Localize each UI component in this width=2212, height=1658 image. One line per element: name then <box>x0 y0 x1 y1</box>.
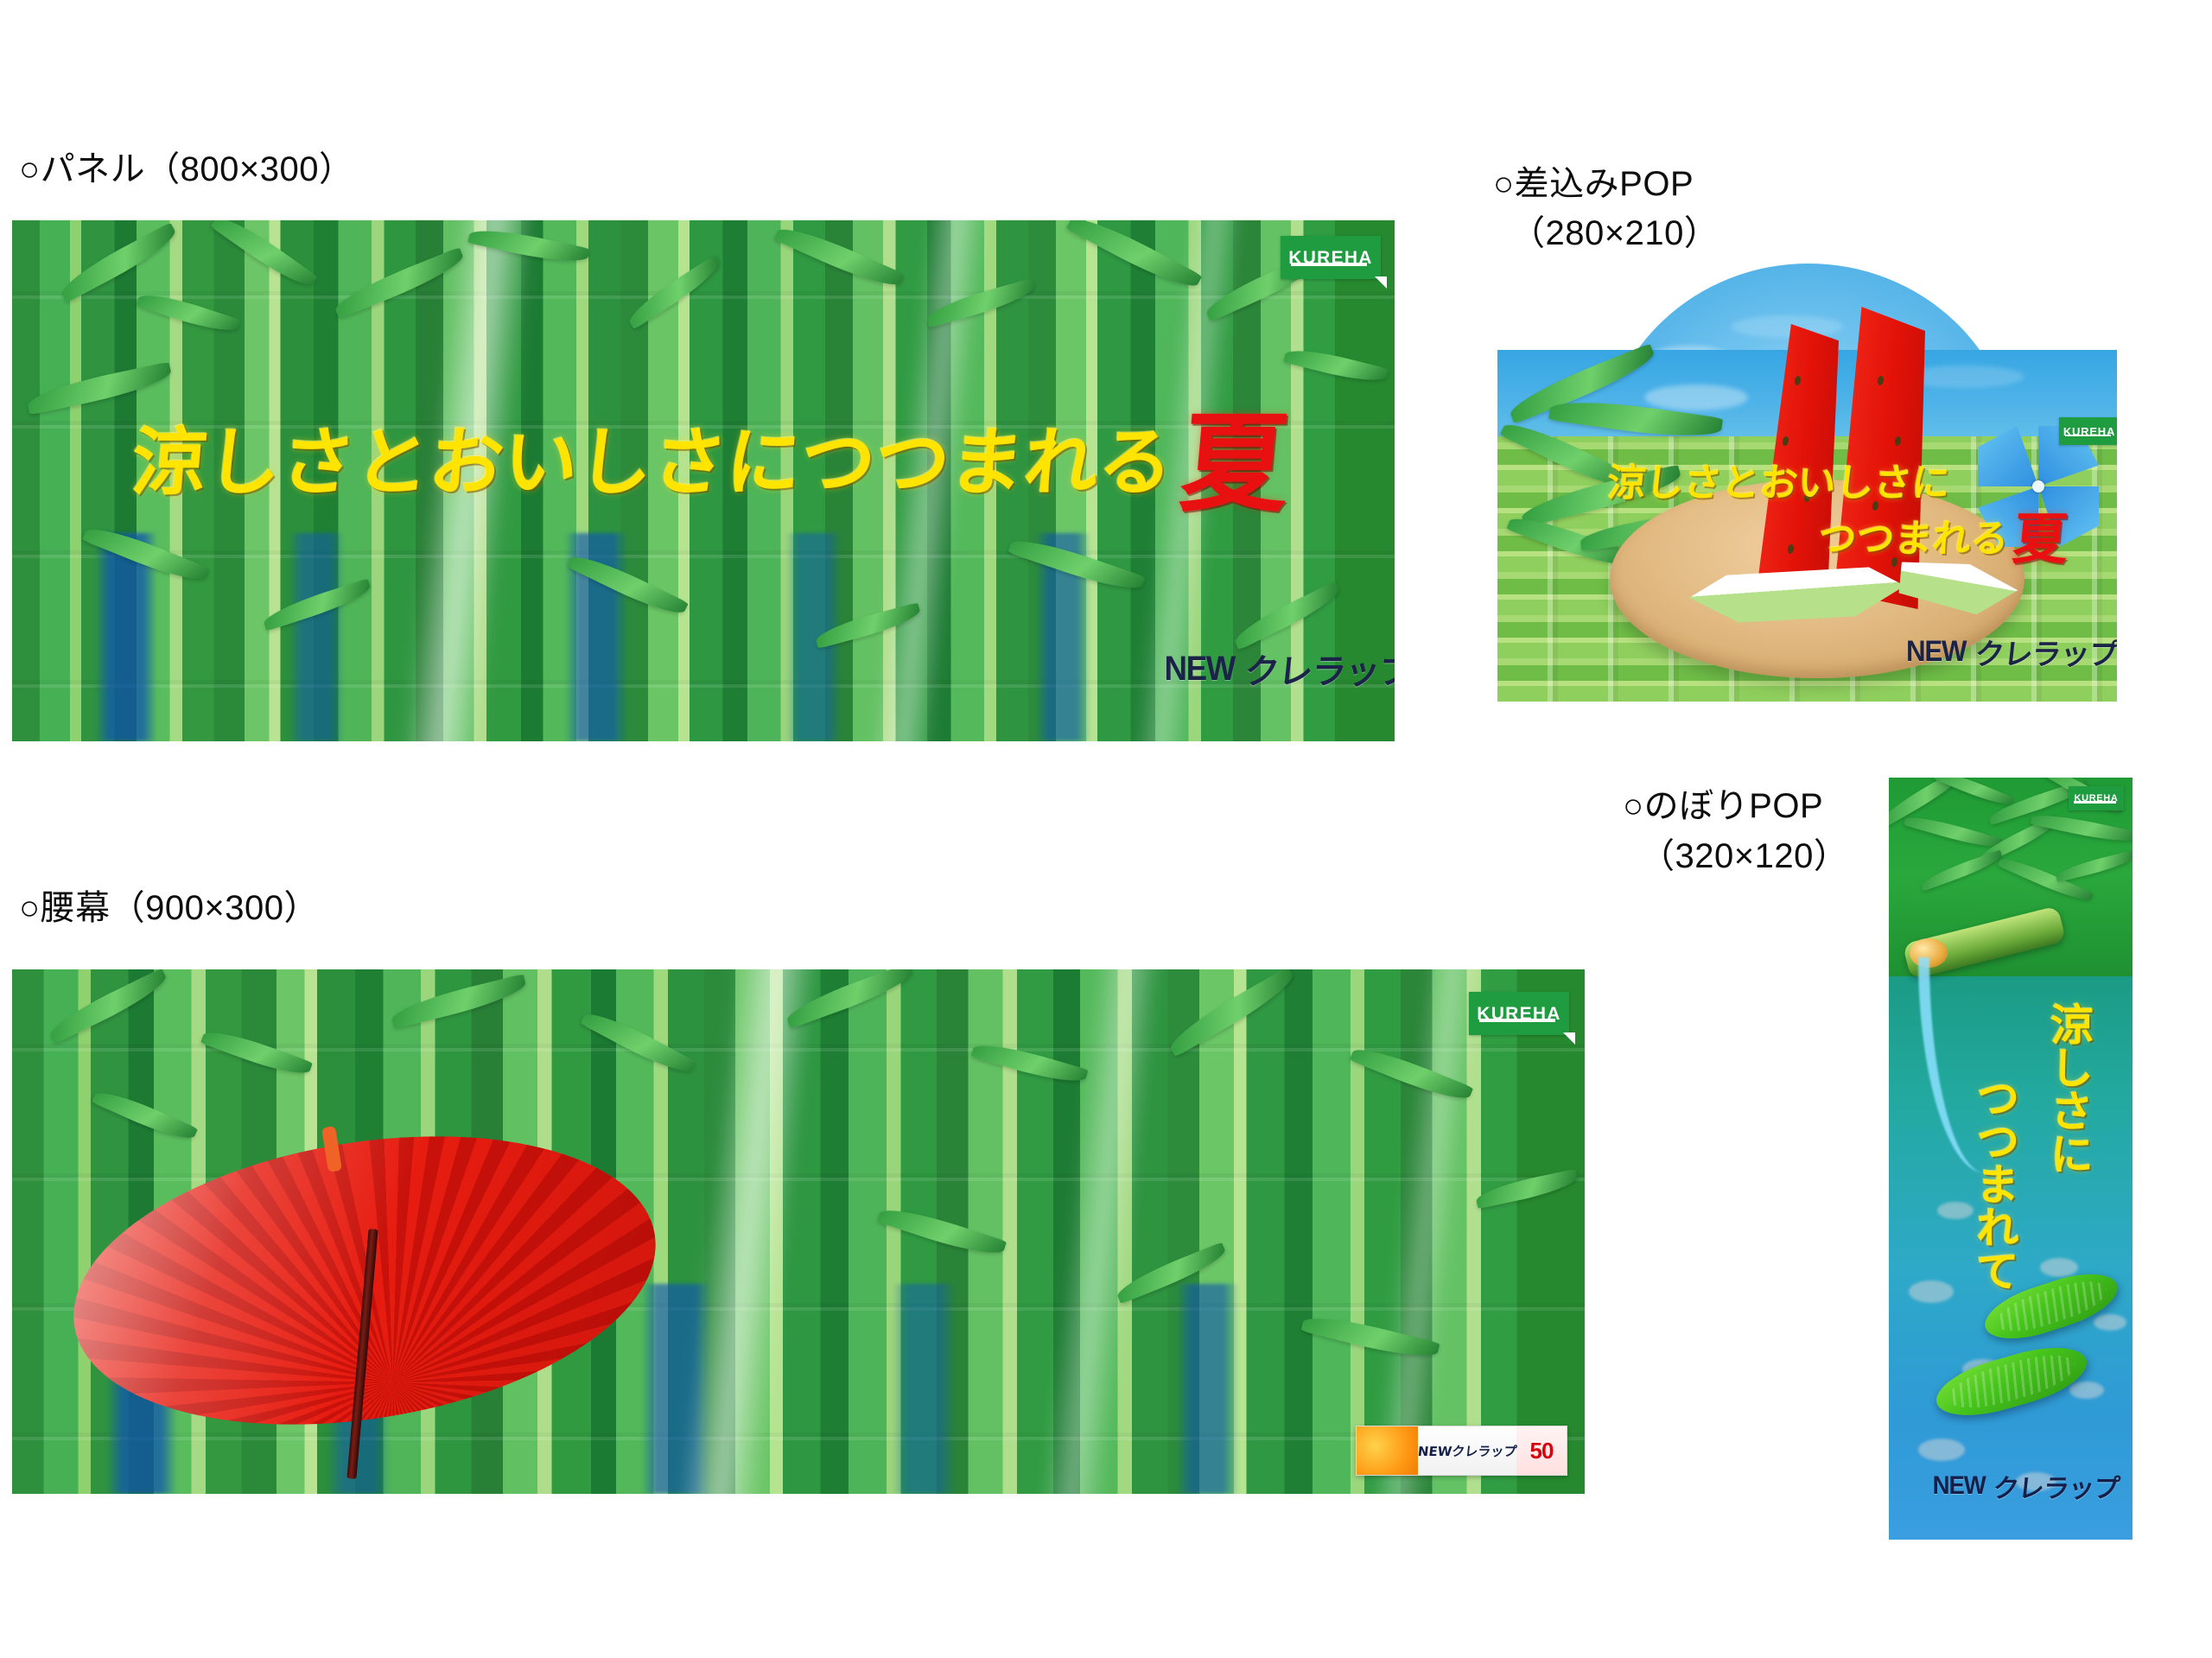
pinwheel-hub <box>2032 480 2044 492</box>
nobori-slogan-column-1: 涼しさに <box>2037 1002 2100 1175</box>
sashikomi-pop-label-line1: ○差込みPOP <box>1493 160 1694 209</box>
pop-slogan-accent: 夏 <box>2010 508 2070 572</box>
panel-slogan: 涼しさとおいしさにつつまれる夏 <box>126 376 1296 532</box>
kurerap-logo-jp: クレラップ <box>1243 644 1395 694</box>
package-logo-new: NEW <box>1417 1444 1452 1459</box>
kurerap-logo-jp: クレラップ <box>1973 631 2117 673</box>
kurerap-logo: NEW クレラップ <box>1930 1467 2119 1505</box>
kureha-logo-bar <box>1479 1019 1555 1023</box>
package-logo-jp: クレラップ <box>1451 1444 1517 1459</box>
kureha-logo-bar <box>2074 801 2116 804</box>
koshimaku-label: ○腰幕（900×300） <box>19 884 319 933</box>
product-package: NEWクレラップ 50 <box>1356 1426 1567 1476</box>
koshimaku-artwork: KUREHA NEWクレラップ 50 <box>12 969 1585 1494</box>
package-orange-image <box>1357 1426 1418 1475</box>
panel-slogan-accent: 夏 <box>1176 402 1294 527</box>
kurerap-logo-new: NEW <box>1165 650 1235 689</box>
kureha-logo-bar <box>2065 435 2111 437</box>
kureha-logo: KUREHA <box>1469 992 1569 1035</box>
panel-artwork: 涼しさとおいしさにつつまれる夏 KUREHA NEW クレラップ <box>12 220 1395 741</box>
nobori-pop-label-line1: ○のぼりPOP <box>1623 782 1823 831</box>
sashikomi-pop-label-line2: （280×210） <box>1510 209 1719 258</box>
pop-slogan-line2-text: つつまれる <box>1816 517 2010 561</box>
pop-slogan-line2: つつまれる夏 <box>1815 495 2072 575</box>
package-size-badge: 50 <box>1516 1426 1567 1475</box>
kureha-logo: KUREHA <box>1281 236 1381 279</box>
sashikomi-pop-artwork: 涼しさとおいしさに つつまれる夏 KUREHA NEW クレラップ <box>1497 264 2117 702</box>
kurerap-logo-new: NEW <box>1933 1471 1986 1501</box>
kureha-logo: KUREHA <box>2069 786 2124 810</box>
panel-slogan-main: 涼しさとおいしさにつつまれる <box>129 420 1177 506</box>
kurerap-logo: NEW クレラップ <box>1904 631 2117 673</box>
kurerap-logo: NEW クレラップ <box>1161 644 1395 694</box>
nobori-pop-artwork: KUREHA 涼しさに つつまれて NEW クレラップ <box>1889 778 2133 1540</box>
kureha-logo: KUREHA <box>2059 417 2117 445</box>
package-logo-area: NEWクレラップ <box>1418 1426 1516 1475</box>
nobori-pop-label-line2: （320×120） <box>1640 832 1848 881</box>
package-kurerap-logo: NEWクレラップ <box>1416 1442 1517 1460</box>
package-badge-value: 50 <box>1529 1439 1553 1462</box>
kureha-logo-bar <box>1291 263 1367 267</box>
panel-label: ○パネル（800×300） <box>19 145 354 194</box>
kurerap-logo-new: NEW <box>1906 635 1966 669</box>
kurerap-logo-jp: クレラップ <box>1992 1467 2121 1505</box>
nobori-slogan-column-2: つつまれて <box>1963 1076 2025 1292</box>
